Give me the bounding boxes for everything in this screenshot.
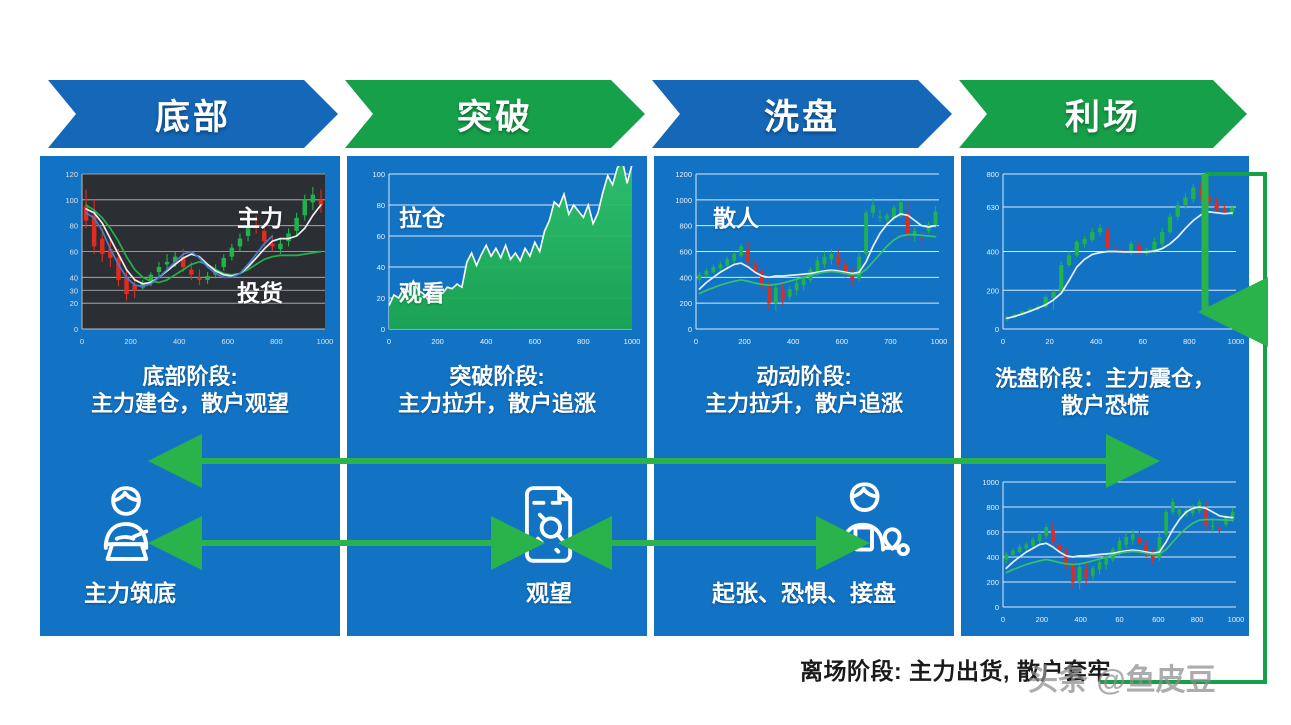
svg-text:1000: 1000 bbox=[931, 337, 947, 346]
svg-text:0: 0 bbox=[995, 325, 999, 334]
svg-text:100: 100 bbox=[372, 170, 385, 179]
svg-text:400: 400 bbox=[1074, 615, 1087, 624]
stage-header-label: 突破 bbox=[457, 89, 533, 140]
panel-breakout-stage: 02040608010002004006008001000 突破阶段: 主力拉升… bbox=[347, 156, 647, 636]
stage-header-breakout[interactable]: 突破 bbox=[345, 80, 645, 148]
infographic-root: 底部 突破 洗盘 利场 0203040608010012002004006008… bbox=[0, 0, 1291, 725]
panel-exit-stage: 0200400630800020400608001000 洗盘阶段：主力震仓， … bbox=[961, 156, 1249, 636]
svg-text:600: 600 bbox=[529, 337, 542, 346]
icon-caption: 主力筑底 bbox=[40, 574, 220, 608]
chart-bottom-stage: 0203040608010012002004006008001000 bbox=[48, 166, 333, 351]
svg-text:400: 400 bbox=[1090, 337, 1103, 346]
svg-text:1000: 1000 bbox=[624, 337, 640, 346]
svg-text:800: 800 bbox=[1183, 337, 1196, 346]
svg-text:60: 60 bbox=[70, 248, 78, 257]
svg-text:0: 0 bbox=[381, 325, 385, 334]
caption-line-1: 突破阶段: bbox=[353, 364, 641, 391]
caption-line-2: 散户恐慌 bbox=[967, 393, 1243, 420]
svg-text:100: 100 bbox=[65, 196, 78, 205]
svg-text:40: 40 bbox=[70, 273, 78, 282]
svg-text:400: 400 bbox=[173, 337, 186, 346]
flow-label-top: 主力 bbox=[195, 199, 325, 233]
svg-text:800: 800 bbox=[986, 503, 999, 512]
panel-washout-stage: 02004006008001000120002004006007001000 动… bbox=[654, 156, 954, 636]
svg-text:20: 20 bbox=[1045, 337, 1053, 346]
flow-label-top: 拉仓 bbox=[357, 199, 487, 233]
person-shopping-icon bbox=[822, 476, 922, 568]
stage-header-label: 洗盘 bbox=[764, 89, 840, 140]
icon-caption: 观望 bbox=[489, 574, 609, 608]
svg-text:800: 800 bbox=[577, 337, 590, 346]
stage-header-label: 底部 bbox=[155, 89, 231, 140]
stage-header-label: 利场 bbox=[1065, 89, 1141, 140]
svg-text:30: 30 bbox=[70, 286, 78, 295]
svg-text:0: 0 bbox=[387, 337, 391, 346]
stage-header-bottom[interactable]: 底部 bbox=[48, 80, 338, 148]
svg-text:200: 200 bbox=[679, 299, 692, 308]
svg-text:600: 600 bbox=[836, 337, 849, 346]
caption-line-2: 主力拉升，散户追涨 bbox=[353, 391, 641, 418]
caption-line-1: 动动阶段: bbox=[660, 364, 948, 391]
chart-exit-stage-bottom: 020040060080010000200400606008001000 bbox=[969, 474, 1244, 629]
svg-text:630: 630 bbox=[986, 203, 999, 212]
svg-text:400: 400 bbox=[480, 337, 493, 346]
svg-text:400: 400 bbox=[986, 248, 999, 257]
svg-text:200: 200 bbox=[986, 286, 999, 295]
flow-label-top: 散人 bbox=[666, 199, 806, 233]
svg-text:60: 60 bbox=[377, 232, 385, 241]
panel-caption: 动动阶段: 主力拉升，散户追涨 bbox=[660, 364, 948, 418]
chart-exit-stage-top: 0200400630800020400608001000 bbox=[969, 166, 1244, 351]
svg-text:0: 0 bbox=[1001, 337, 1005, 346]
panel-caption: 洗盘阶段：主力震仓， 散户恐慌 bbox=[967, 366, 1243, 420]
panel-caption: 突破阶段: 主力拉升，散户追涨 bbox=[353, 364, 641, 418]
svg-text:1000: 1000 bbox=[1228, 615, 1244, 624]
panel-bottom-stage: 0203040608010012002004006008001000 底部阶段:… bbox=[40, 156, 340, 636]
caption-line-2: 主力建仓，散户观望 bbox=[46, 391, 334, 418]
panel-caption: 底部阶段: 主力建仓，散户观望 bbox=[46, 364, 334, 418]
svg-text:1000: 1000 bbox=[982, 478, 999, 487]
svg-text:200: 200 bbox=[431, 337, 444, 346]
chart-breakout-stage: 02040608010002004006008001000 bbox=[355, 166, 640, 351]
person-writing-icon bbox=[78, 478, 174, 570]
svg-text:40: 40 bbox=[377, 263, 385, 272]
svg-text:0: 0 bbox=[80, 337, 84, 346]
svg-text:200: 200 bbox=[738, 337, 751, 346]
svg-text:1000: 1000 bbox=[317, 337, 333, 346]
svg-text:0: 0 bbox=[74, 325, 78, 334]
svg-text:800: 800 bbox=[986, 170, 999, 179]
caption-line-1: 底部阶段: bbox=[46, 364, 334, 391]
svg-text:600: 600 bbox=[222, 337, 235, 346]
stage-header-exit[interactable]: 利场 bbox=[959, 80, 1247, 148]
svg-text:400: 400 bbox=[986, 553, 999, 562]
svg-text:120: 120 bbox=[65, 170, 78, 179]
svg-text:700: 700 bbox=[884, 337, 897, 346]
svg-text:60: 60 bbox=[1139, 337, 1147, 346]
svg-text:600: 600 bbox=[986, 528, 999, 537]
svg-text:0: 0 bbox=[694, 337, 698, 346]
flow-label-bottom: 投货 bbox=[195, 274, 325, 308]
svg-text:400: 400 bbox=[787, 337, 800, 346]
svg-text:200: 200 bbox=[986, 578, 999, 587]
stage-header-washout[interactable]: 洗盘 bbox=[652, 80, 952, 148]
svg-text:1200: 1200 bbox=[675, 170, 692, 179]
svg-text:800: 800 bbox=[270, 337, 283, 346]
svg-text:600: 600 bbox=[679, 248, 692, 257]
svg-text:20: 20 bbox=[70, 299, 78, 308]
svg-text:0: 0 bbox=[688, 325, 692, 334]
flow-label-bottom: 观看 bbox=[357, 274, 487, 308]
svg-text:200: 200 bbox=[1036, 615, 1049, 624]
icon-caption: 起张、恐惧、接盘 bbox=[654, 574, 954, 608]
svg-text:800: 800 bbox=[1191, 615, 1204, 624]
svg-text:600: 600 bbox=[1152, 615, 1165, 624]
watermark: 头条 @鱼皮豆 bbox=[1028, 655, 1216, 699]
svg-text:0: 0 bbox=[995, 603, 999, 612]
phone-search-icon bbox=[509, 478, 589, 570]
caption-line-2: 主力拉升，散户追涨 bbox=[660, 391, 948, 418]
svg-text:200: 200 bbox=[124, 337, 137, 346]
chart-washout-stage: 02004006008001000120002004006007001000 bbox=[662, 166, 947, 351]
svg-text:60: 60 bbox=[1115, 615, 1123, 624]
svg-text:0: 0 bbox=[1001, 615, 1005, 624]
svg-text:80: 80 bbox=[70, 222, 78, 231]
svg-text:400: 400 bbox=[679, 273, 692, 282]
caption-line-1: 洗盘阶段：主力震仓， bbox=[967, 366, 1243, 393]
svg-text:1000: 1000 bbox=[1228, 337, 1244, 346]
